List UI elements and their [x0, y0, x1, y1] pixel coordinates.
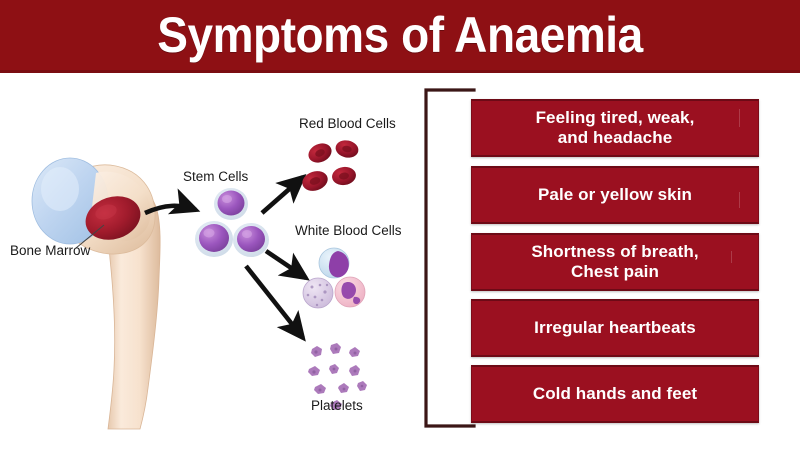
- symptom-text-3: Shortness of breath, Chest pain: [523, 242, 706, 282]
- box-streak: [739, 192, 740, 208]
- label-platelets: Platelets: [311, 398, 363, 413]
- symptom-text-2: Pale or yellow skin: [530, 185, 700, 205]
- haematopoiesis-diagram: Bone Marrow Stem Cells Red Blood Cells W…: [0, 73, 430, 450]
- arrow-stem-to-platelets: [246, 266, 303, 338]
- bone-illustration: [32, 158, 160, 429]
- symptom-text-4: Irregular heartbeats: [526, 318, 704, 338]
- box-streak: [731, 251, 732, 263]
- white-blood-cells-cluster: [303, 248, 365, 308]
- symptom-box-1[interactable]: Feeling tired, weak, and headache: [471, 99, 759, 157]
- label-bone-marrow: Bone Marrow: [10, 243, 90, 258]
- symptom-box-3[interactable]: Shortness of breath, Chest pain: [471, 233, 759, 291]
- label-red-blood-cells: Red Blood Cells: [299, 116, 396, 131]
- label-white-blood-cells: White Blood Cells: [295, 223, 402, 238]
- symptoms-list: Feeling tired, weak, and headache Pale o…: [471, 99, 759, 424]
- page-title: Symptoms of Anaemia: [32, 2, 768, 68]
- arrow-stem-to-rbc: [262, 177, 303, 213]
- symptom-text-1: Feeling tired, weak, and headache: [528, 108, 703, 148]
- grouping-bracket: [424, 88, 476, 428]
- red-blood-cells-cluster: [300, 138, 360, 194]
- arrow-stem-to-wbc: [266, 251, 306, 278]
- symptom-text-5: Cold hands and feet: [525, 384, 705, 404]
- stem-cells-cluster: [195, 188, 269, 257]
- symptom-box-2[interactable]: Pale or yellow skin: [471, 166, 759, 224]
- box-streak: [739, 109, 740, 127]
- label-stem-cells: Stem Cells: [183, 169, 248, 184]
- symptom-box-4[interactable]: Irregular heartbeats: [471, 299, 759, 357]
- symptom-box-5[interactable]: Cold hands and feet: [471, 365, 759, 423]
- infographic-root: Symptoms of Anaemia: [0, 0, 800, 450]
